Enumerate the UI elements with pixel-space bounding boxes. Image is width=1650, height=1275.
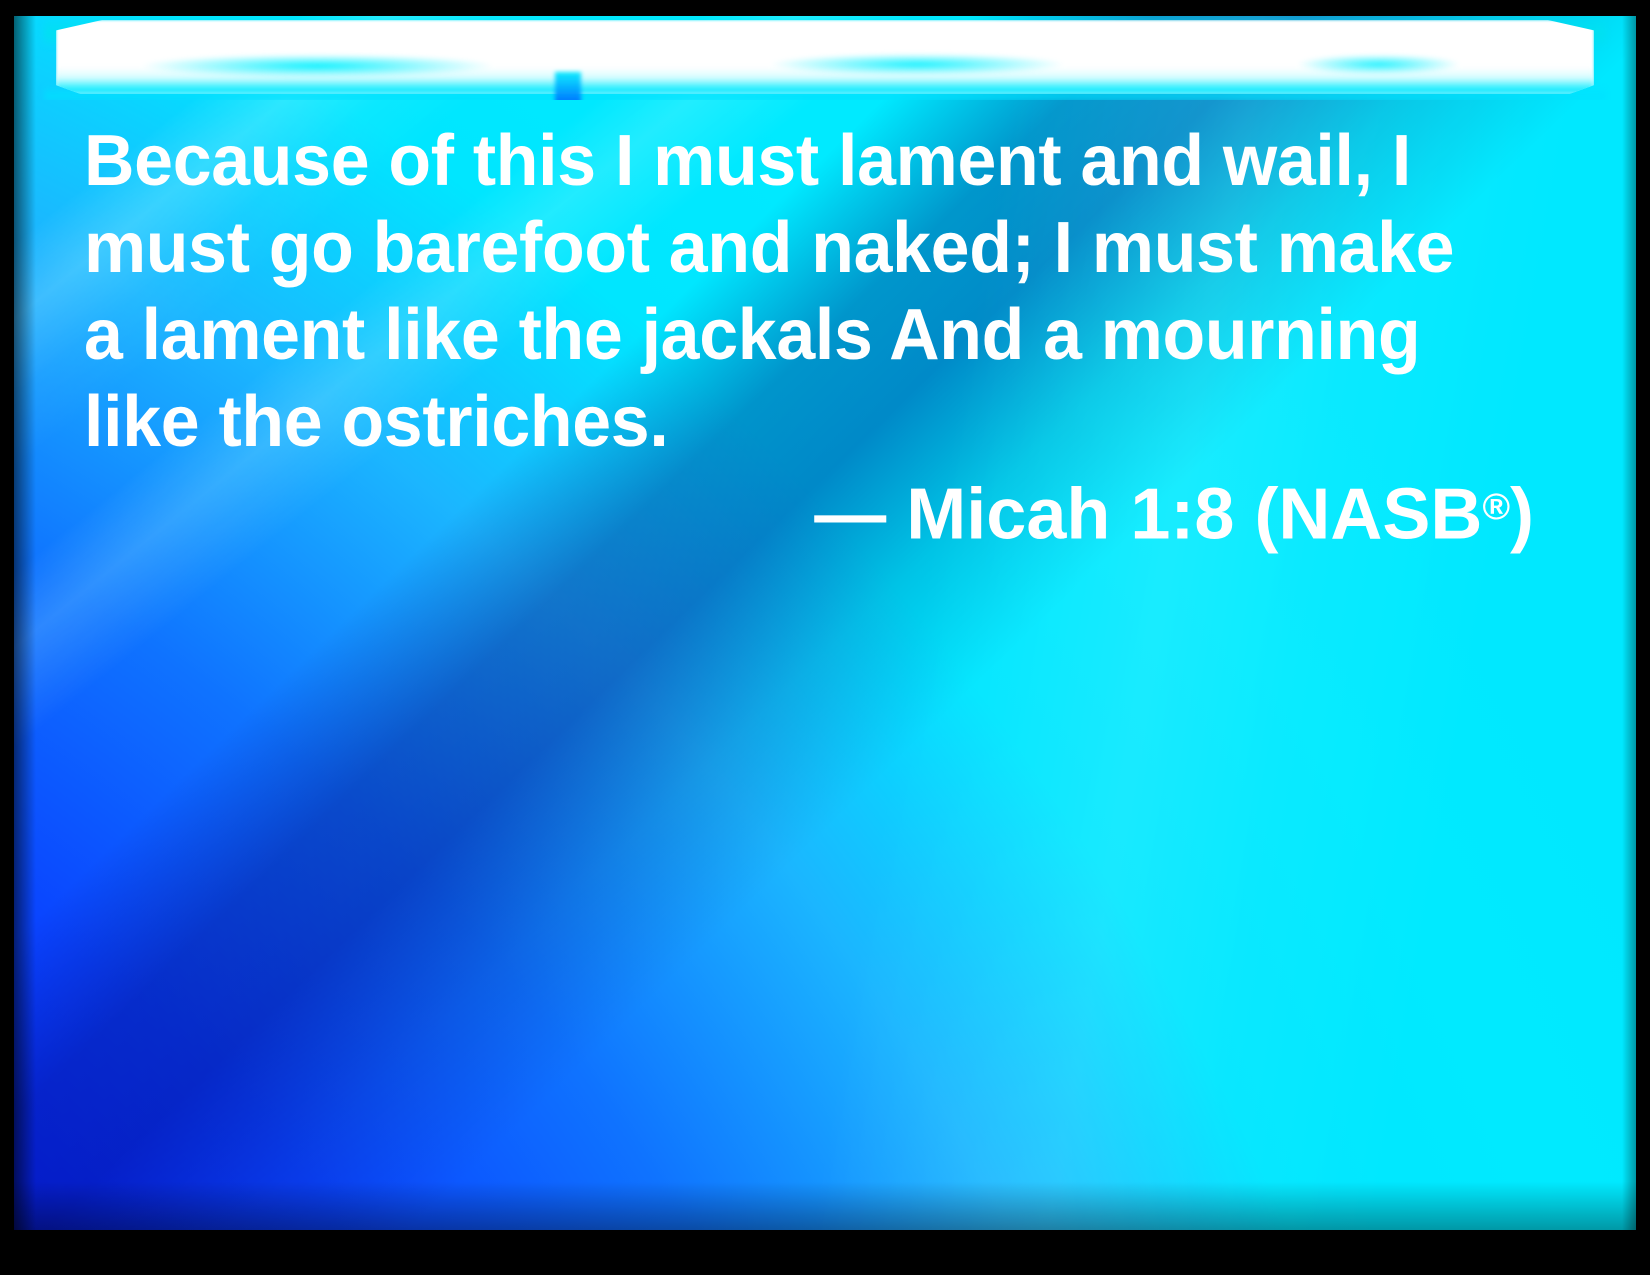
- verse-reference: — Micah 1:8 (NASB®): [84, 463, 1534, 558]
- verse-line-2: must go barefoot and naked; I must make: [84, 205, 1529, 292]
- top-glow-bar: [14, 16, 1636, 100]
- em-dash: —: [814, 474, 886, 554]
- translation-open-paren: (NASB: [1254, 474, 1482, 554]
- verse-text-block: Because of this I must lament and wail, …: [84, 118, 1574, 466]
- chapter-verse: 1:8: [1130, 474, 1234, 554]
- verse-line-1: Because of this I must lament and wail, …: [84, 118, 1529, 205]
- verse-line-4: like the ostriches.: [84, 379, 1529, 466]
- glow-bar-cyan-streaks: [56, 20, 1594, 94]
- book-name: Micah: [906, 474, 1110, 554]
- translation-close-paren: ): [1510, 474, 1534, 554]
- verse-slide: Because of this I must lament and wail, …: [0, 0, 1650, 1275]
- verse-line-3: a lament like the jackals And a mourning: [84, 292, 1529, 379]
- registered-trademark-icon: ®: [1482, 485, 1510, 527]
- glow-bar-notch: [555, 72, 581, 100]
